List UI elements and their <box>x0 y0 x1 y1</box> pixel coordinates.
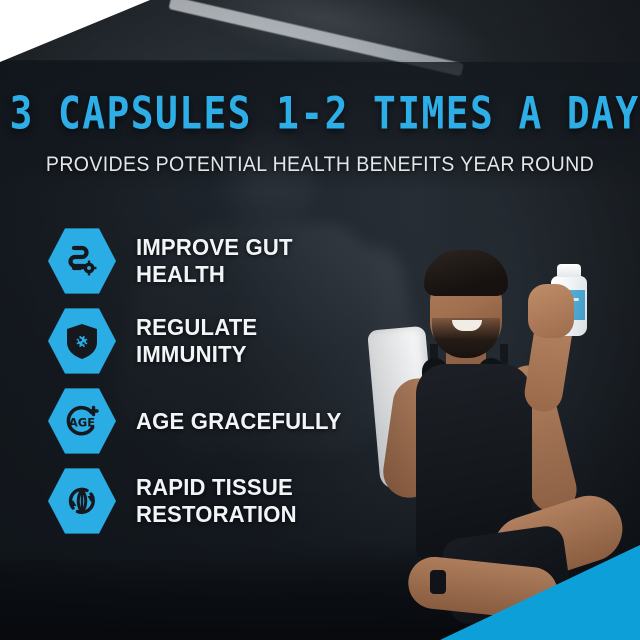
promo-poster: 3 CAPSULES 1-2 TIMES A DAY PROVIDES POTE… <box>0 0 640 640</box>
page-subtitle: PROVIDES POTENTIAL HEALTH BENEFITS YEAR … <box>22 153 617 177</box>
bottle-cap <box>557 264 581 277</box>
svg-text:AGE: AGE <box>69 415 95 429</box>
benefit-item-immunity: REGULATE IMMUNITY <box>48 302 378 380</box>
benefits-list: IMPROVE GUT HEALTH <box>48 222 378 542</box>
renewal-arrows-cell-icon <box>48 467 116 535</box>
model-hair <box>424 250 508 296</box>
benefit-label: AGE GRACEFULLY <box>136 408 342 435</box>
benefit-item-age-gracefully: AGE AGE GRACEFULLY <box>48 382 378 460</box>
model-hand <box>528 284 574 338</box>
age-plus-circle-icon: AGE <box>48 387 116 455</box>
benefit-label: REGULATE IMMUNITY <box>136 314 368 367</box>
benefit-label: IMPROVE GUT HEALTH <box>136 234 368 287</box>
headline-block: 3 CAPSULES 1-2 TIMES A DAY PROVIDES POTE… <box>0 92 640 177</box>
wrist-watch <box>430 570 446 594</box>
benefit-item-tissue-restoration: RAPID TISSUE RESTORATION <box>48 462 378 540</box>
benefit-item-gut-health: IMPROVE GUT HEALTH <box>48 222 378 300</box>
intestine-gear-icon <box>48 227 116 295</box>
page-title: 3 CAPSULES 1-2 TIMES A DAY <box>10 89 631 140</box>
benefit-label: RAPID TISSUE RESTORATION <box>136 474 297 527</box>
shield-virus-icon <box>48 307 116 375</box>
